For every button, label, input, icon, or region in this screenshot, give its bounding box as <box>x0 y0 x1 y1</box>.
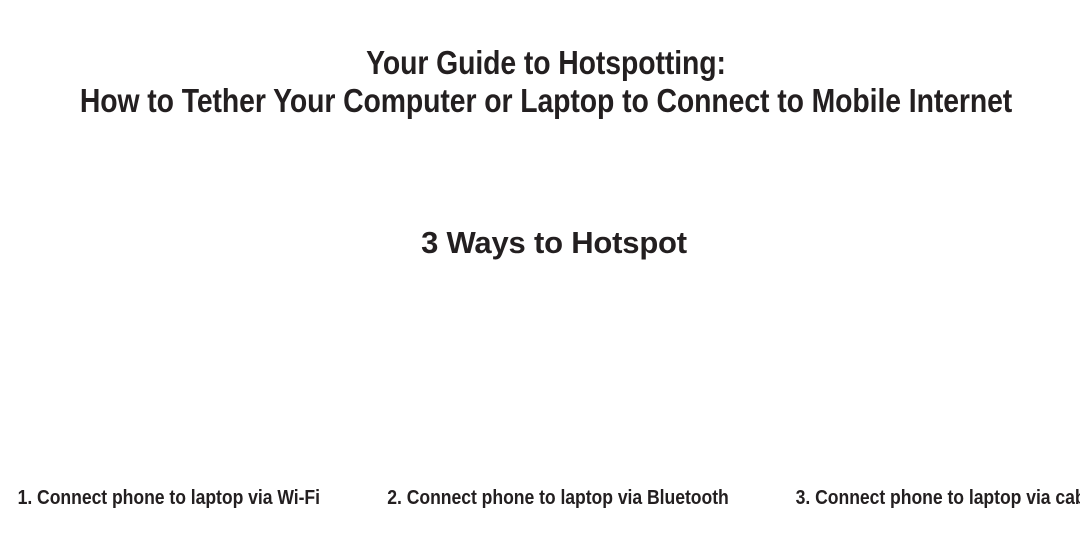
title-line-1: Your Guide to Hotspotting: <box>76 44 1015 82</box>
title-line-2: How to Tether Your Computer or Laptop to… <box>76 82 1015 120</box>
infographic-page: Your Guide to Hotspotting: How to Tether… <box>0 0 1080 552</box>
page-title: Your Guide to Hotspotting: How to Tether… <box>0 44 1080 120</box>
method-caption-bluetooth: 2. Connect phone to laptop via Bluetooth <box>387 486 728 510</box>
section-heading: 3 Ways to Hotspot <box>0 224 1080 262</box>
method-caption-cable: 3. Connect phone to laptop via cable <box>795 486 1080 510</box>
caption-row: 1. Connect phone to laptop via Wi-Fi 2. … <box>0 486 1080 514</box>
illustration-slot-cable <box>720 286 1080 482</box>
method-caption-wifi: 1. Connect phone to laptop via Wi-Fi <box>0 486 320 510</box>
illustration-band <box>0 286 1080 482</box>
illustration-slot-bluetooth <box>360 286 720 482</box>
illustration-slot-wifi <box>0 286 360 482</box>
